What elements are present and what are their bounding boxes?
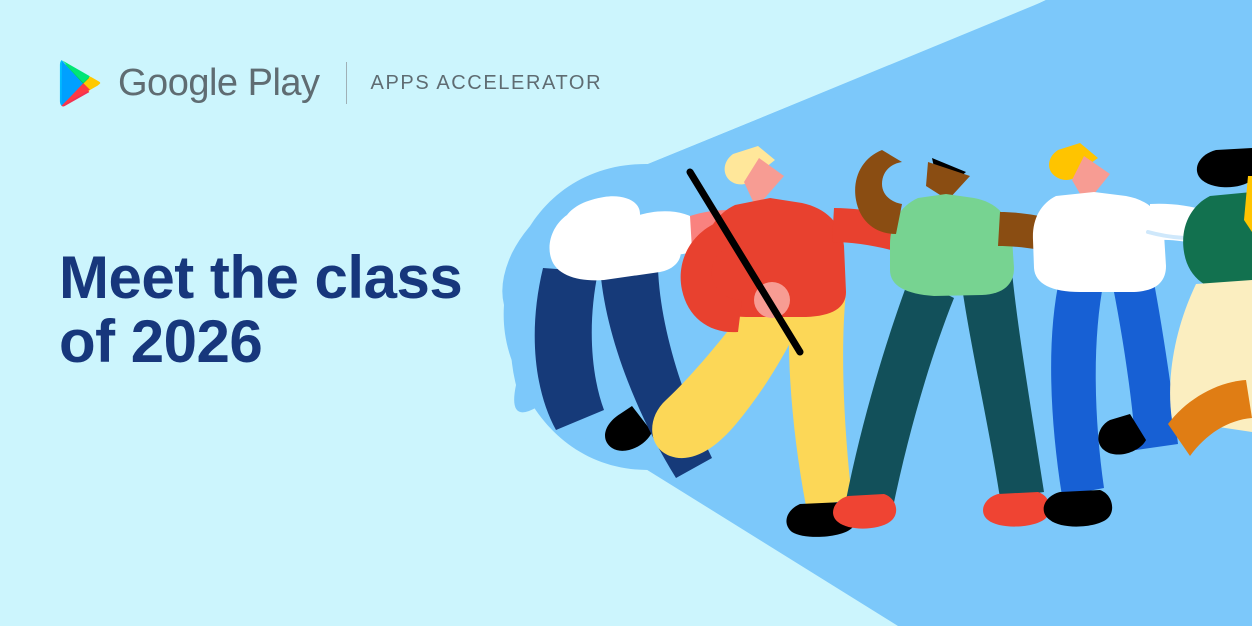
program-name-label: APPS ACCELERATOR	[371, 73, 603, 93]
lockup-divider	[346, 62, 347, 104]
google-play-icon	[59, 59, 105, 107]
google-play-wordmark: Google Play	[118, 64, 320, 102]
page-title: Meet the class of 2026	[59, 246, 462, 374]
google-play-apps-accelerator-banner: Google Play APPS ACCELERATOR Meet the cl…	[0, 0, 1252, 626]
logo-lockup: Google Play APPS ACCELERATOR	[59, 58, 602, 108]
